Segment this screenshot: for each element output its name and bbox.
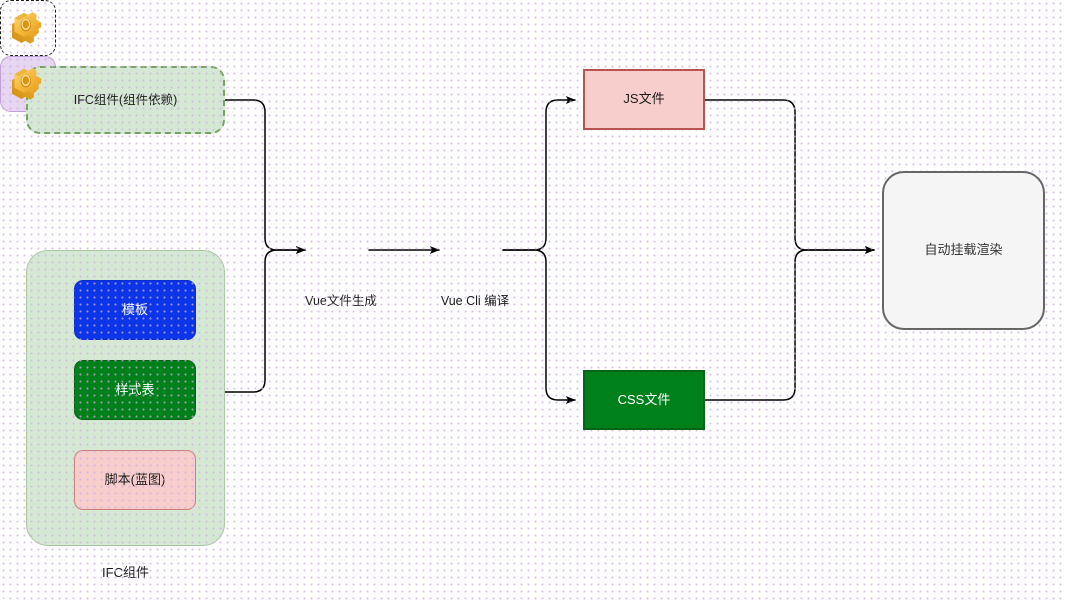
node-label: CSS文件 xyxy=(618,392,671,409)
gear-icon xyxy=(5,61,51,107)
node-css-file[interactable]: CSS文件 xyxy=(583,370,705,430)
gear-icon xyxy=(5,5,51,51)
node-vue-cli-compile[interactable] xyxy=(0,56,56,112)
node-label: JS文件 xyxy=(623,91,664,108)
node-vue-file-generation[interactable] xyxy=(0,0,56,56)
node-vue-cli-compile-label: Vue Cli 编译 xyxy=(395,290,555,309)
diagram-canvas: IFC组件(组件依赖) IFC组件 模板 样式表 脚本(蓝图) xyxy=(0,0,1065,601)
node-auto-mount-render[interactable]: 自动挂载渲染 xyxy=(882,171,1045,330)
node-label: 自动挂载渲染 xyxy=(924,242,1002,259)
node-js-file[interactable]: JS文件 xyxy=(583,69,705,130)
